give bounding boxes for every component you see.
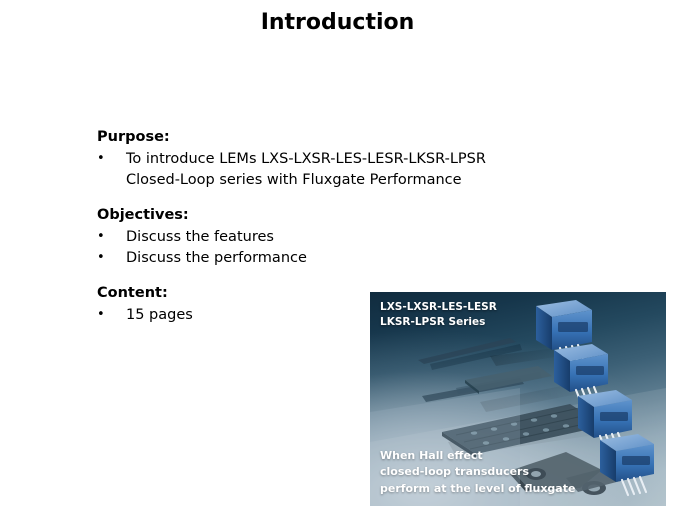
bullet-icon: • — [97, 305, 126, 326]
bullet-icon: • — [97, 149, 126, 170]
bullet-text: 15 pages — [126, 305, 193, 326]
section-heading-purpose: Purpose: — [97, 128, 617, 147]
list-item: • To introduce LEMs LXS-LXSR-LES-LESR-LK… — [97, 149, 617, 190]
list-item: • Discuss the features — [97, 227, 617, 248]
bullet-icon: • — [97, 248, 126, 269]
page-title: Introduction — [0, 10, 675, 35]
list-item: • Discuss the performance — [97, 248, 617, 269]
section-objectives: Objectives: • Discuss the features • Dis… — [97, 206, 617, 268]
bullet-text: Discuss the features — [126, 227, 274, 248]
product-photo: LXS-LXSR-LES-LESR LKSR-LPSR Series When … — [370, 292, 666, 506]
section-heading-objectives: Objectives: — [97, 206, 617, 225]
bullet-text: To introduce LEMs LXS-LXSR-LES-LESR-LKSR… — [126, 149, 486, 190]
product-photo-tagline: When Hall effect closed-loop transducers… — [380, 448, 575, 498]
bullet-text: Discuss the performance — [126, 248, 307, 269]
section-purpose: Purpose: • To introduce LEMs LXS-LXSR-LE… — [97, 128, 617, 190]
product-photo-title: LXS-LXSR-LES-LESR LKSR-LPSR Series — [380, 300, 497, 330]
bullet-icon: • — [97, 227, 126, 248]
